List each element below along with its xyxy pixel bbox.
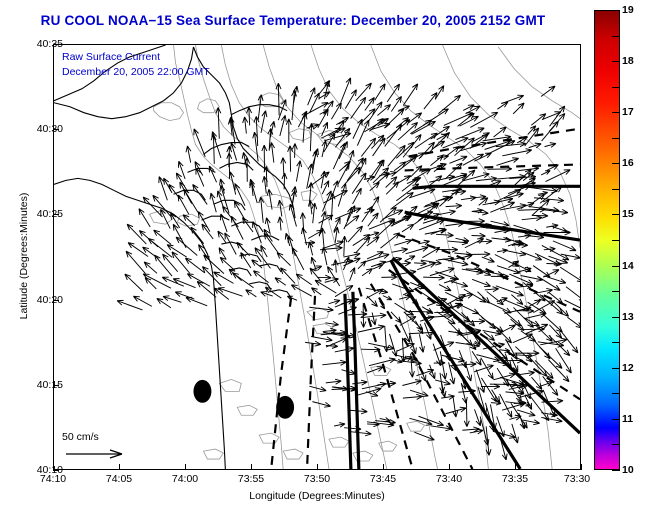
- colorbar-tick-mark: [612, 61, 620, 62]
- current-vector: [311, 337, 332, 342]
- current-vector: [502, 149, 531, 156]
- current-vector: [348, 312, 367, 317]
- current-vector: [331, 103, 341, 120]
- current-vector: [566, 287, 580, 302]
- colorbar-tick-mark: [612, 87, 620, 88]
- current-vector: [392, 192, 414, 208]
- current-vector: [327, 266, 339, 286]
- current-vector: [282, 173, 287, 189]
- current-vector: [291, 90, 296, 120]
- x-tick-mark-0: [53, 464, 54, 470]
- current-vector: [326, 379, 341, 384]
- current-vector: [220, 214, 227, 232]
- current-vector: [143, 274, 171, 288]
- current-vector: [435, 380, 450, 385]
- current-vector: [391, 96, 401, 111]
- current-vector: [261, 245, 267, 257]
- current-vector: [133, 296, 152, 306]
- current-vector: [496, 158, 518, 166]
- current-vector: [334, 423, 345, 427]
- current-vector: [218, 288, 242, 297]
- colorbar-tick-mark: [612, 240, 620, 241]
- current-vector: [388, 145, 406, 166]
- current-vector: [429, 175, 455, 182]
- current-vector: [385, 124, 402, 146]
- current-vector: [369, 232, 379, 236]
- current-vector: [275, 278, 286, 286]
- current-vector: [371, 313, 376, 326]
- current-vector: [345, 90, 356, 109]
- current-vector: [476, 177, 497, 182]
- current-vector: [312, 149, 319, 168]
- current-vector: [405, 256, 415, 261]
- current-vector: [446, 146, 459, 156]
- current-vector: [547, 277, 566, 284]
- colorbar-tick-mark: [612, 163, 620, 164]
- current-vector: [361, 138, 375, 156]
- current-vector: [399, 295, 411, 300]
- current-vector: [367, 367, 383, 373]
- colorbar-tick-15: 15: [622, 208, 634, 220]
- current-vector: [391, 248, 407, 253]
- colorbar-tick-mark: [612, 444, 620, 445]
- current-vector: [117, 300, 142, 310]
- current-vector: [329, 300, 340, 305]
- current-vector: [291, 285, 312, 296]
- current-vector: [364, 209, 374, 213]
- x-axis-tick-6: 73:40: [436, 473, 462, 485]
- current-vector: [448, 330, 463, 335]
- current-vector: [453, 396, 458, 417]
- current-vector: [437, 134, 448, 140]
- y-axis-label: Latitude (Degrees:Minutes): [18, 146, 30, 366]
- current-vector: [176, 173, 188, 193]
- current-vector: [345, 167, 360, 183]
- vector-scale-legend: 50 cm/s: [62, 431, 180, 467]
- current-vector: [342, 236, 347, 256]
- current-vector: [464, 399, 469, 426]
- current-vector: [139, 209, 150, 227]
- current-vector: [368, 213, 378, 226]
- current-vector: [529, 300, 541, 307]
- current-vector: [125, 274, 143, 291]
- y-axis-tick-3: 40:20: [37, 294, 63, 306]
- x-axis-tick-3: 73:55: [238, 473, 264, 485]
- colorbar-tick-11: 11: [622, 413, 633, 425]
- x-axis-tick-1: 74:05: [106, 473, 132, 485]
- current-vector: [306, 124, 318, 129]
- current-vector: [296, 161, 301, 182]
- current-vector: [193, 184, 208, 204]
- current-vector: [445, 292, 463, 300]
- current-vector: [185, 258, 204, 273]
- current-vector: [368, 102, 382, 122]
- current-vector: [225, 233, 236, 255]
- current-vector: [475, 409, 481, 425]
- current-vector: [497, 102, 508, 109]
- current-vector: [440, 373, 445, 393]
- current-vector: [472, 233, 486, 238]
- current-vector: [229, 172, 235, 195]
- current-vector: [518, 371, 535, 376]
- current-vector: [422, 247, 439, 257]
- current-vector: [312, 203, 317, 223]
- colorbar-tick-mark: [612, 393, 620, 394]
- current-vector: [394, 239, 412, 245]
- current-vector: [350, 268, 355, 281]
- colorbar-tick-mark: [612, 291, 620, 292]
- current-vector: [419, 334, 424, 352]
- current-vector: [365, 97, 375, 110]
- current-vector: [128, 243, 148, 257]
- colorbar-tick-17: 17: [622, 106, 634, 118]
- current-vector: [217, 191, 223, 208]
- colorbar-tick-mark: [612, 214, 620, 215]
- x-axis-tick-7: 73:35: [502, 473, 528, 485]
- colorbar-tick-mark: [612, 470, 620, 471]
- current-vector: [143, 247, 159, 258]
- current-vector: [492, 237, 512, 242]
- current-vector: [518, 234, 531, 239]
- sst-map-figure: RU COOL NOAA−15 Sea Surface Temperature:…: [0, 0, 651, 519]
- current-vector: [175, 292, 194, 299]
- current-vector: [495, 255, 519, 267]
- y-tick-mark-3: [53, 300, 59, 301]
- current-vector: [343, 252, 360, 257]
- current-vector: [368, 343, 394, 350]
- current-vector: [481, 358, 493, 379]
- current-vector: [367, 296, 377, 307]
- x-tick-mark-2: [185, 464, 186, 470]
- current-vector: [288, 236, 295, 256]
- current-vector: [349, 431, 371, 436]
- current-vector: [485, 287, 499, 292]
- current-vector: [352, 173, 366, 194]
- current-vector: [449, 156, 467, 163]
- y-tick-mark-2: [53, 214, 59, 215]
- current-vector: [280, 115, 286, 136]
- current-vector: [362, 269, 372, 276]
- coastline: [54, 45, 295, 469]
- current-vector: [322, 122, 328, 136]
- current-vector: [371, 261, 386, 267]
- current-vector: [333, 181, 338, 194]
- current-vector: [243, 117, 248, 134]
- current-vector: [361, 347, 380, 352]
- colorbar-tick-19: 19: [622, 4, 634, 16]
- current-vector: [423, 109, 448, 126]
- colorbar-tick-mark: [612, 10, 620, 11]
- current-vector: [430, 155, 443, 166]
- x-tick-mark-4: [317, 464, 318, 470]
- current-vector: [308, 230, 323, 238]
- current-vector: [436, 233, 453, 238]
- colorbar-tick-mark: [612, 112, 620, 113]
- current-vector: [357, 120, 368, 146]
- current-vector: [522, 216, 542, 221]
- current-vector: [277, 253, 291, 266]
- current-vector: [178, 195, 189, 214]
- current-vector: [446, 203, 462, 208]
- current-vector: [482, 318, 504, 332]
- current-vector: [497, 249, 507, 253]
- current-vector: [403, 84, 417, 105]
- current-vector: [553, 241, 576, 251]
- current-vector: [186, 146, 191, 163]
- current-vector: [383, 296, 392, 300]
- current-vector: [419, 142, 435, 159]
- current-vector: [362, 206, 373, 222]
- y-axis-tick-0: 40:35: [37, 38, 63, 50]
- current-vector: [461, 196, 476, 201]
- current-vector: [414, 261, 426, 266]
- current-vector: [289, 204, 296, 226]
- current-vector: [402, 380, 421, 386]
- current-vector: [524, 318, 540, 326]
- current-vector: [216, 107, 221, 138]
- colorbar-tick-mark: [612, 317, 620, 318]
- current-vector: [254, 116, 259, 146]
- current-vector: [548, 360, 569, 382]
- current-vector: [370, 182, 380, 190]
- current-vector: [291, 191, 296, 204]
- current-vector: [542, 121, 559, 141]
- y-tick-mark-0: [53, 44, 59, 45]
- current-vector: [494, 127, 507, 137]
- current-vector: [431, 229, 446, 235]
- bathymetry-contours: [150, 45, 580, 469]
- current-vector: [163, 296, 181, 302]
- current-vector: [172, 252, 190, 273]
- current-vector: [341, 78, 351, 103]
- x-tick-mark-6: [449, 464, 450, 470]
- current-vector: [442, 187, 462, 192]
- current-vector: [276, 83, 281, 115]
- current-vector: [333, 260, 338, 273]
- current-vector: [287, 296, 297, 300]
- scale-arrow-icon: [64, 447, 134, 461]
- current-vector: [198, 212, 210, 232]
- current-vector: [481, 378, 496, 402]
- scale-legend-label: 50 cm/s: [62, 431, 180, 443]
- current-vector: [357, 388, 381, 396]
- current-vector: [322, 181, 329, 194]
- y-tick-mark-1: [53, 129, 59, 130]
- current-vector: [528, 187, 557, 193]
- current-vector: [278, 217, 283, 231]
- current-vector: [545, 143, 556, 148]
- current-vector: [265, 287, 281, 298]
- current-vector: [439, 284, 451, 290]
- current-vector: [324, 132, 351, 140]
- current-vector: [292, 143, 297, 157]
- current-vector: [325, 278, 339, 283]
- current-vector: [524, 327, 545, 332]
- current-vector: [169, 184, 180, 198]
- current-vector: [253, 271, 268, 283]
- current-vector: [523, 420, 540, 425]
- current-vector: [513, 334, 533, 343]
- y-tick-mark-5: [53, 470, 59, 471]
- current-vector: [308, 88, 315, 106]
- current-vector: [242, 218, 253, 232]
- current-vector: [402, 224, 414, 231]
- current-vector: [209, 166, 216, 182]
- current-vector: [403, 394, 423, 399]
- current-vector: [214, 288, 229, 299]
- current-vector: [234, 201, 245, 220]
- current-vector: [288, 146, 293, 172]
- x-axis-tick-4: 73:50: [304, 473, 330, 485]
- current-vector: [281, 158, 286, 175]
- current-vector: [335, 347, 354, 352]
- current-vector: [270, 142, 275, 162]
- current-vector: [541, 171, 550, 175]
- x-axis-label: Longitude (Degrees:Minutes): [53, 490, 581, 502]
- current-vector: [322, 247, 327, 265]
- current-vector: [543, 270, 559, 278]
- current-vector: [524, 312, 546, 318]
- current-vector: [375, 84, 385, 100]
- colorbar-tick-mark: [612, 138, 620, 139]
- current-vector: [540, 347, 563, 368]
- colorbar-tick-12: 12: [622, 362, 634, 374]
- colorbar-tick-mark: [612, 342, 620, 343]
- x-axis-tick-2: 74:00: [172, 473, 198, 485]
- x-tick-mark-1: [119, 464, 120, 470]
- current-vector: [424, 93, 437, 110]
- current-vector: [482, 257, 495, 262]
- current-vector: [538, 277, 560, 291]
- current-vector: [246, 290, 257, 297]
- current-vector: [312, 402, 330, 408]
- colorbar-tick-mark: [612, 266, 620, 267]
- annotation-line-1: Raw Surface Current: [62, 50, 210, 65]
- current-vector: [325, 321, 338, 326]
- current-vector: [210, 193, 216, 212]
- colorbar-tick-14: 14: [622, 260, 634, 272]
- current-vector: [322, 360, 346, 365]
- colorbar-tick-18: 18: [622, 55, 634, 67]
- current-vector: [438, 95, 460, 113]
- current-vector: [565, 300, 580, 311]
- plot-annotation: Raw Surface Current December 20, 2005 22…: [62, 50, 210, 80]
- current-vector: [466, 106, 481, 114]
- current-vector: [126, 251, 145, 273]
- colorbar-tick-mark: [612, 189, 620, 190]
- y-axis-tick-2: 40:25: [37, 208, 63, 220]
- current-vector: [309, 386, 326, 391]
- current-vector: [384, 326, 389, 352]
- current-vector: [551, 226, 567, 232]
- x-tick-mark-8: [581, 464, 582, 470]
- current-vector: [229, 269, 242, 281]
- current-vector: [382, 210, 403, 219]
- colorbar-tick-mark: [612, 419, 620, 420]
- map-canvas: [54, 45, 580, 469]
- y-axis-tick-4: 40:15: [37, 379, 63, 391]
- current-vector: [481, 384, 500, 389]
- current-vector: [485, 140, 511, 149]
- colorbar-tick-16: 16: [622, 157, 634, 169]
- current-vector: [223, 206, 239, 227]
- current-vector: [220, 257, 235, 270]
- current-vector: [286, 119, 291, 143]
- current-vector: [323, 190, 347, 203]
- x-tick-mark-3: [251, 464, 252, 470]
- current-vector: [259, 197, 264, 223]
- x-tick-mark-7: [515, 464, 516, 470]
- x-axis-tick-0: 74:10: [40, 473, 66, 485]
- current-vector: [348, 226, 363, 242]
- current-vector: [441, 383, 446, 397]
- current-vector: [154, 230, 172, 244]
- current-vector: [415, 133, 437, 148]
- current-vector: [542, 245, 569, 259]
- x-tick-mark-5: [383, 464, 384, 470]
- map-plot-area[interactable]: Raw Surface Current December 20, 2005 22…: [53, 44, 581, 470]
- current-vector: [430, 268, 455, 276]
- x-axis-tick-5: 73:45: [370, 473, 396, 485]
- current-vector: [541, 417, 562, 422]
- current-vector: [477, 292, 489, 303]
- current-vector: [157, 298, 171, 307]
- current-vector: [367, 252, 383, 259]
- current-vector: [211, 134, 216, 164]
- current-vector: [463, 154, 484, 165]
- y-tick-mark-4: [53, 385, 59, 386]
- current-vector: [351, 97, 366, 118]
- current-vector: [500, 394, 512, 418]
- current-vector: [541, 86, 555, 96]
- current-vector: [513, 103, 524, 114]
- current-vector: [191, 227, 204, 244]
- current-vector: [430, 426, 451, 431]
- current-vector: [194, 129, 205, 157]
- colorbar-tick-mark: [612, 368, 620, 369]
- current-vector: [449, 281, 468, 287]
- current-vector: [144, 262, 157, 273]
- current-vector: [423, 275, 444, 280]
- current-vector: [281, 268, 296, 284]
- current-vector: [529, 143, 541, 148]
- current-vector: [186, 297, 207, 306]
- current-vector: [472, 279, 490, 286]
- current-vector: [470, 112, 497, 127]
- radar-site-marker: [193, 380, 211, 403]
- current-vector: [560, 267, 580, 282]
- current-vector: [406, 247, 429, 254]
- current-vector: [390, 334, 397, 356]
- current-vector: [474, 365, 493, 372]
- page-title: RU COOL NOAA−15 Sea Surface Temperature:…: [0, 13, 586, 28]
- x-axis-tick-8: 73:30: [564, 473, 590, 485]
- y-axis-tick-1: 40:30: [37, 123, 63, 135]
- current-vector: [512, 424, 518, 443]
- current-vector: [202, 224, 213, 239]
- current-vector: [433, 344, 441, 366]
- colorbar-tick-mark: [612, 36, 620, 37]
- current-vector: [567, 317, 580, 328]
- colorbar-tick-10: 10: [622, 464, 634, 476]
- annotation-line-2: December 20, 2005 22:00 GMT: [62, 65, 210, 80]
- colorbar-tick-13: 13: [622, 311, 634, 323]
- current-vector: [298, 111, 306, 127]
- current-vector: [523, 252, 542, 260]
- current-vector: [311, 288, 321, 295]
- current-vector: [261, 111, 267, 133]
